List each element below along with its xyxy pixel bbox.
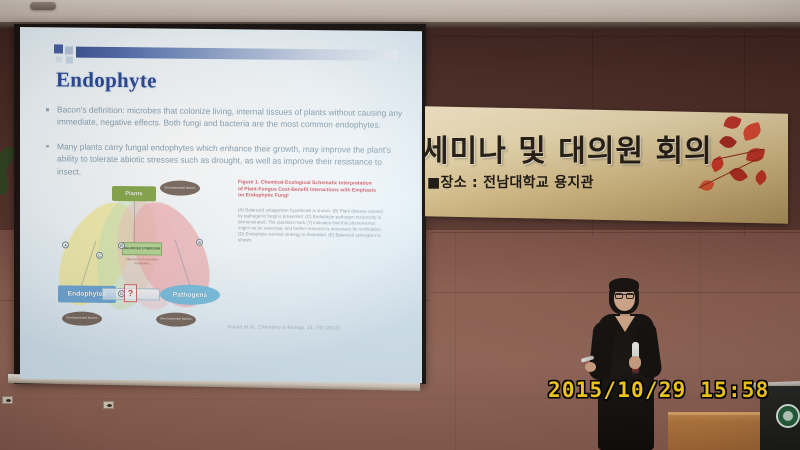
metabolites-label: Plant-derived secondary metabolites [118, 258, 166, 266]
slide-header-decoration [54, 41, 406, 67]
wall-outlet [2, 396, 13, 404]
figure-caption-title: Figure 1. Chemical-Ecological Schematic … [238, 179, 378, 200]
projected-slide: Endophyte Bacon's definition: microbes t… [20, 27, 422, 383]
figure-caption-body: (A) Balanced antagonism hypothesis is sh… [238, 207, 384, 245]
slide-figure-diagram: Environmental factors Environmental fact… [60, 179, 225, 331]
diagram-letter-e: E [118, 242, 125, 249]
diagram-letter-b: B [196, 239, 203, 246]
university-emblem-icon [776, 404, 800, 428]
slide-header-bar [76, 47, 398, 61]
maple-leaf-icon [723, 114, 742, 131]
diagram-letter-c: C [96, 252, 103, 259]
slide-bullet: Bacon's definition: microbes that coloni… [44, 103, 404, 132]
diagram-connector [134, 200, 135, 244]
environmental-factors-node: Environmental factors [156, 312, 196, 326]
diagram-node-pathogens: Pathogens [160, 284, 220, 305]
presenter-hand-right [629, 356, 641, 369]
lecture-hall-photo: Endophyte Bacon's definition: microbes t… [0, 0, 800, 450]
wall-outlet [103, 401, 114, 409]
pixel-block-icon [65, 46, 73, 54]
camera-timestamp: 2015/10/29 15:58 [548, 378, 770, 402]
slide-title: Endophyte [56, 67, 157, 93]
ceiling-light-icon [30, 2, 56, 10]
figure-citation: Kusari et al., Chemistry & Biology, 19, … [228, 325, 388, 332]
seminar-banner: 세미나 및 대의원 회의 ■장소 : 전남대학교 용지관 [425, 106, 788, 224]
pixel-block-icon [56, 56, 62, 62]
pixel-block-icon [54, 44, 63, 53]
maple-leaf-icon [753, 169, 769, 185]
presenter-hand-left [585, 362, 596, 372]
slide-bullet: Many plants carry fungal endophytes whic… [44, 140, 404, 181]
eyeglasses-bridge [614, 294, 635, 299]
question-mark-marker: ? [124, 284, 137, 302]
environmental-factors-node: Environmental factors [160, 180, 200, 195]
diagram-letter-d: D [118, 290, 125, 297]
pixel-block-icon [66, 56, 73, 63]
diagram-letter-a: A [62, 241, 69, 248]
maple-leaf-icon [719, 133, 737, 151]
podium [668, 412, 772, 450]
diagram-node-plants: Plants [112, 186, 156, 201]
presenter-hair-front [609, 278, 639, 292]
presenter [585, 278, 671, 450]
environmental-factors-node: Environmental factors [62, 311, 102, 325]
balanced-synergism-label: BALANCED SYNERGISM [122, 242, 162, 255]
maple-leaf-icon [741, 122, 762, 141]
wall-seam-vertical [455, 230, 456, 450]
banner-subtitle: ■장소 : 전남대학교 용지관 [427, 172, 594, 192]
banner-title: 세미나 및 대의원 회의 [425, 126, 713, 170]
wall-seam-vertical [700, 230, 701, 380]
